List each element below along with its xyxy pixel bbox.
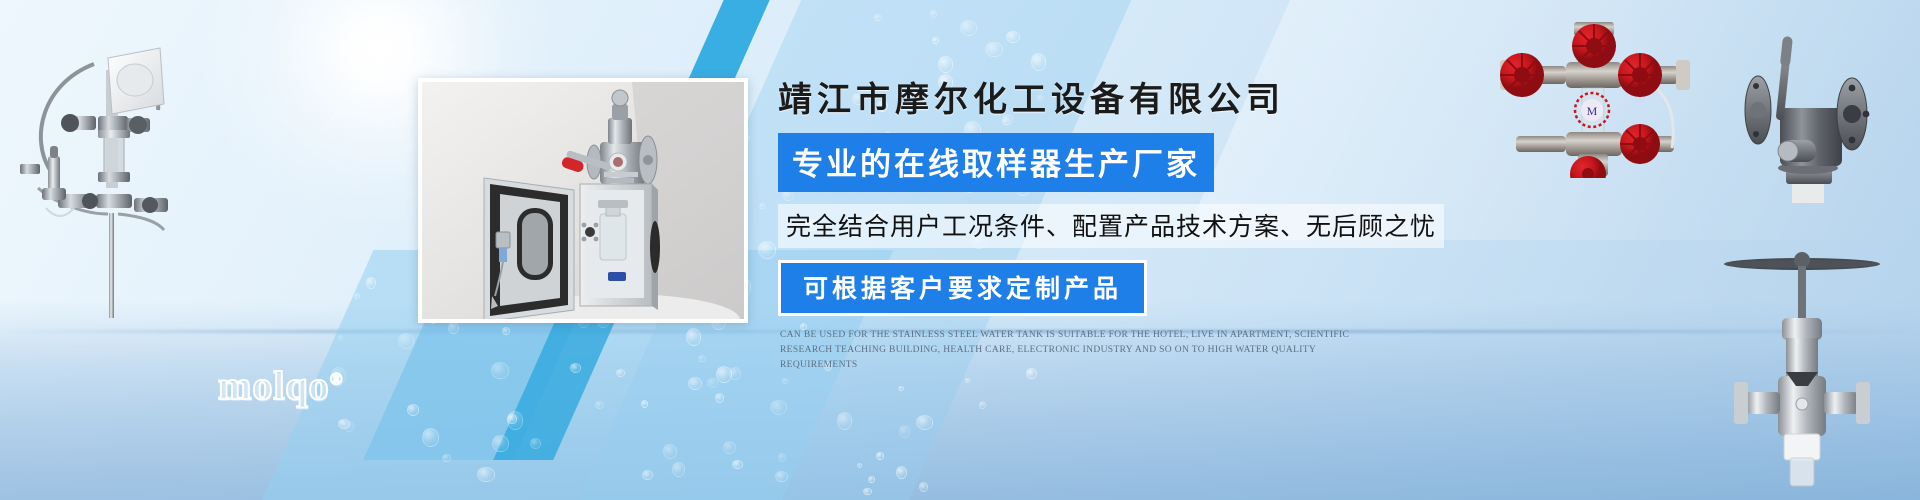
- english-caption: CAN BE USED FOR THE STAINLESS STEEL WATE…: [780, 328, 1380, 373]
- product-bottle-sampling-valve: [1690, 222, 1915, 492]
- watermark-text: molqo: [218, 363, 330, 408]
- marketing-copy: 靖江市摩尔化工设备有限公司 专业的在线取样器生产厂家 完全结合用户工况条件、配置…: [778, 72, 1398, 373]
- product-sampling-probe-assembly: [8, 18, 198, 318]
- product-cross-valve-manifold: M: [1478, 18, 1708, 178]
- brand-watermark: molqo®: [218, 362, 343, 409]
- sub-headline: 完全结合用户工况条件、配置产品技术方案、无后顾之忧: [778, 204, 1444, 248]
- company-name: 靖江市摩尔化工设备有限公司: [778, 72, 1398, 121]
- svg-text:M: M: [1587, 104, 1598, 118]
- headline-banner: 专业的在线取样器生产厂家: [778, 133, 1214, 192]
- product-photo-sampling-cabinet: [418, 78, 748, 323]
- product-lever-flange-valve: [1700, 18, 1915, 203]
- promo-banner: M: [0, 0, 1920, 500]
- custom-product-callout[interactable]: 可根据客户要求定制产品: [778, 260, 1147, 316]
- registered-mark-icon: ®: [330, 370, 344, 389]
